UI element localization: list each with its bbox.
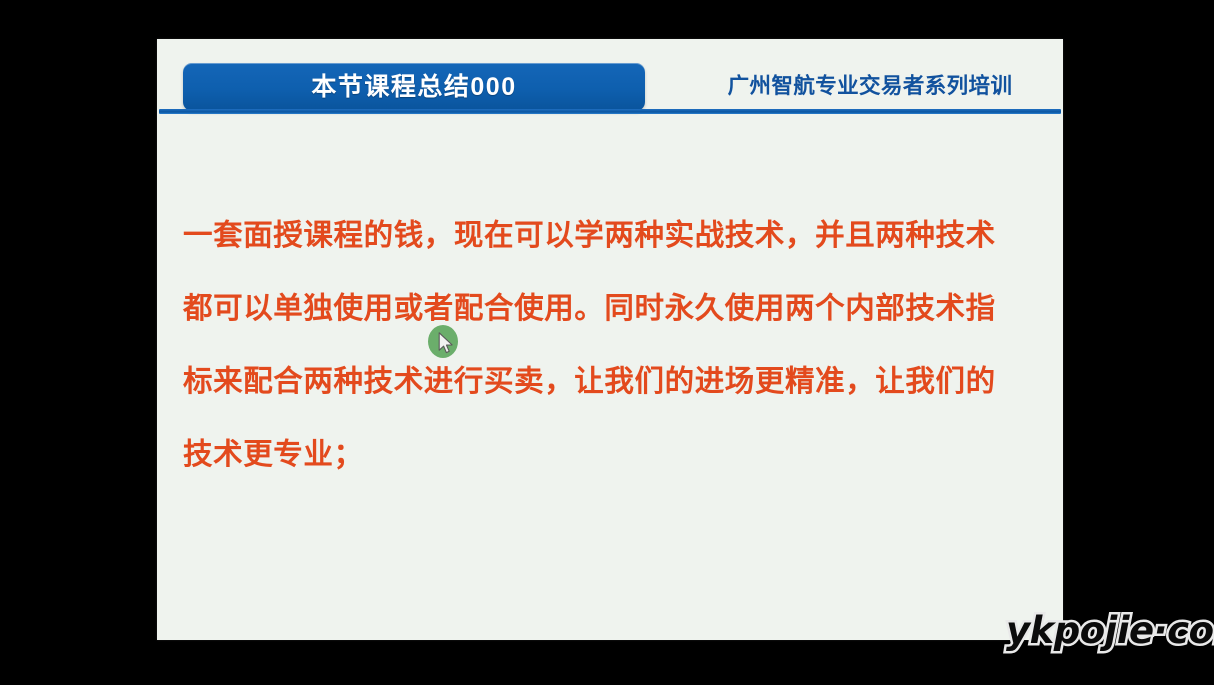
slide-header: 本节课程总结000 广州智航专业交易者系列培训 xyxy=(157,39,1063,117)
slide-title-text: 本节课程总结000 xyxy=(311,75,516,100)
presentation-slide: 本节课程总结000 广州智航专业交易者系列培训 一套面授课程的钱，现在可以学两种… xyxy=(157,39,1063,640)
course-brand: 广州智航专业交易者系列培训 xyxy=(697,63,1043,111)
body-line: 都可以单独使用或者配合使用。同时永久使用两个内部技术指 xyxy=(183,272,1035,345)
body-line: 技术更专业； xyxy=(183,418,1035,491)
course-brand-text: 广州智航专业交易者系列培训 xyxy=(728,76,1013,98)
slide-body: 一套面授课程的钱，现在可以学两种实战技术，并且两种技术 都可以单独使用或者配合使… xyxy=(183,199,1035,491)
slide-title-banner: 本节课程总结000 xyxy=(183,63,645,111)
header-divider-rule xyxy=(159,109,1061,114)
video-screen: 本节课程总结000 广州智航专业交易者系列培训 一套面授课程的钱，现在可以学两种… xyxy=(0,0,1214,685)
body-line: 一套面授课程的钱，现在可以学两种实战技术，并且两种技术 xyxy=(183,199,1035,272)
body-line: 标来配合两种技术进行买卖，让我们的进场更精准，让我们的 xyxy=(183,345,1035,418)
site-watermark: ykpojie·com xyxy=(1006,612,1214,649)
